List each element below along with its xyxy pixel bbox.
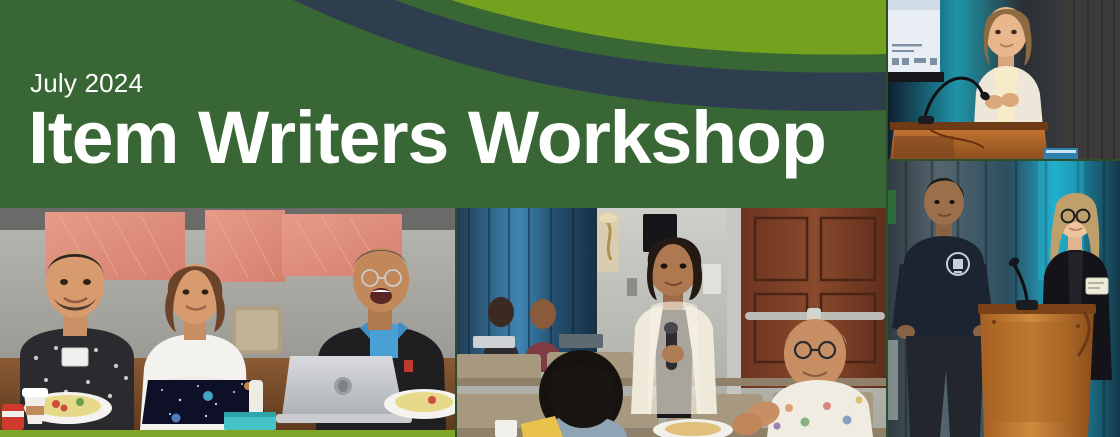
- banner-title: Item Writers Workshop: [28, 102, 885, 173]
- item-writers-workshop-banner: July 2024 Item Writers Workshop: [0, 0, 1120, 437]
- photo-seam-left: [455, 208, 457, 437]
- photo-seam-right: [886, 0, 888, 437]
- footer-accent-strip: [0, 430, 455, 437]
- standing-presenter-in-meeting-room-photo: [455, 208, 888, 437]
- woman-speaking-at-lectern-photo: [888, 0, 1120, 160]
- two-presenters-at-lectern-photo: [888, 160, 1120, 437]
- three-attendees-at-conference-table-photo: [0, 208, 455, 430]
- photo-seam-right-horizontal: [888, 159, 1120, 161]
- header-text-block: July 2024 Item Writers Workshop: [28, 70, 868, 173]
- header-band: July 2024 Item Writers Workshop: [0, 0, 888, 208]
- banner-date: July 2024: [30, 70, 868, 96]
